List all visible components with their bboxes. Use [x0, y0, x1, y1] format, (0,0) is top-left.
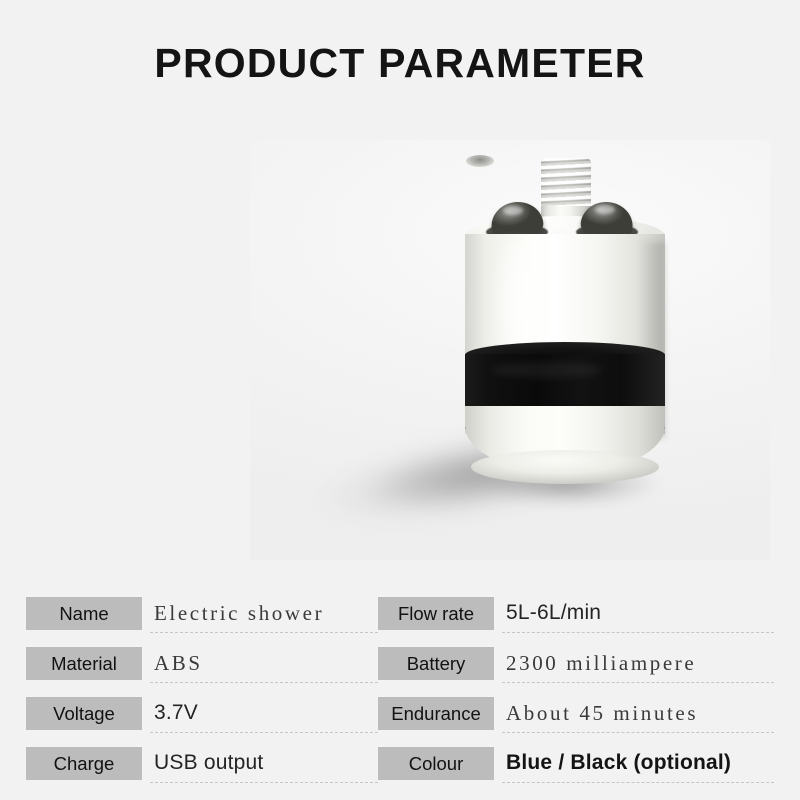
- spec-value-charge: USB output: [154, 746, 263, 780]
- table-row: Charge USB output Colour Blue / Black (o…: [0, 742, 800, 792]
- spec-value-name: Electric shower: [154, 596, 324, 630]
- table-row: Material ABS Battery 2300 milliampere: [0, 642, 800, 692]
- table-row: Name Electric shower Flow rate 5L-6L/min: [0, 592, 800, 642]
- spec-value-battery: 2300 milliampere: [506, 646, 696, 680]
- device-base-rim: [471, 450, 659, 484]
- spec-cell-name: Name Electric shower: [26, 592, 378, 642]
- spec-underline: [502, 682, 774, 683]
- right-fitting-highlight: [595, 205, 615, 214]
- spec-label-voltage: Voltage: [26, 697, 142, 730]
- spec-cell-flow-rate: Flow rate 5L-6L/min: [378, 592, 774, 642]
- spec-underline: [150, 682, 378, 683]
- thread-ridges: [541, 158, 591, 206]
- band-highlight: [491, 362, 603, 378]
- spec-label-battery: Battery: [378, 647, 494, 680]
- spec-underline: [502, 732, 774, 733]
- spec-underline: [150, 732, 378, 733]
- spec-cell-charge: Charge USB output: [26, 742, 378, 792]
- spec-underline: [502, 782, 774, 783]
- spec-label-flow-rate: Flow rate: [378, 597, 494, 630]
- spec-value-colour: Blue / Black (optional): [506, 746, 731, 780]
- page-title: PRODUCT PARAMETER: [0, 40, 800, 87]
- spec-underline: [502, 632, 774, 633]
- spec-value-endurance: About 45 minutes: [506, 696, 698, 730]
- spec-value-flow-rate: 5L-6L/min: [506, 596, 601, 630]
- shower-head-device: [455, 158, 675, 488]
- spec-label-charge: Charge: [26, 747, 142, 780]
- spec-label-material: Material: [26, 647, 142, 680]
- spec-value-voltage: 3.7V: [154, 696, 198, 730]
- inlet-bore: [466, 155, 494, 167]
- specification-table: Name Electric shower Flow rate 5L-6L/min…: [0, 592, 800, 792]
- table-row: Voltage 3.7V Endurance About 45 minutes: [0, 692, 800, 742]
- left-fitting-highlight: [503, 206, 523, 215]
- spec-cell-material: Material ABS: [26, 642, 378, 692]
- product-parameter-page: PRODUCT PARAMETER: [0, 0, 800, 800]
- spec-label-colour: Colour: [378, 747, 494, 780]
- spec-cell-colour: Colour Blue / Black (optional): [378, 742, 774, 792]
- spec-underline: [150, 782, 378, 783]
- spec-label-endurance: Endurance: [378, 697, 494, 730]
- spec-value-material: ABS: [154, 646, 203, 680]
- product-image: [250, 140, 770, 560]
- spec-cell-battery: Battery 2300 milliampere: [378, 642, 774, 692]
- spec-underline: [150, 632, 378, 633]
- spec-label-name: Name: [26, 597, 142, 630]
- spec-cell-voltage: Voltage 3.7V: [26, 692, 378, 742]
- spec-cell-endurance: Endurance About 45 minutes: [378, 692, 774, 742]
